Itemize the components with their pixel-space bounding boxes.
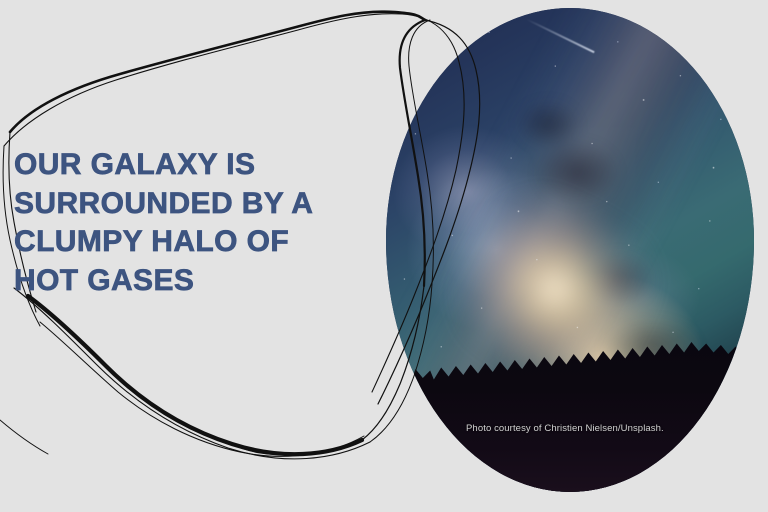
headline-line-3: CLUMPY HALO OF	[14, 223, 354, 262]
page-title: OUR GALAXY IS SURROUNDED BY A CLUMPY HAL…	[14, 146, 354, 300]
galaxy-photo-oval: Photo courtesy of Christien Nielsen/Unsp…	[386, 8, 754, 492]
headline-line-1: OUR GALAXY IS	[14, 146, 354, 185]
headline-line-2: SURROUNDED BY A	[14, 185, 354, 224]
photo-credit-caption: Photo courtesy of Christien Nielsen/Unsp…	[466, 423, 664, 434]
poster-canvas: Photo courtesy of Christien Nielsen/Unsp…	[0, 0, 768, 512]
headline-line-4: HOT GASES	[14, 262, 354, 301]
